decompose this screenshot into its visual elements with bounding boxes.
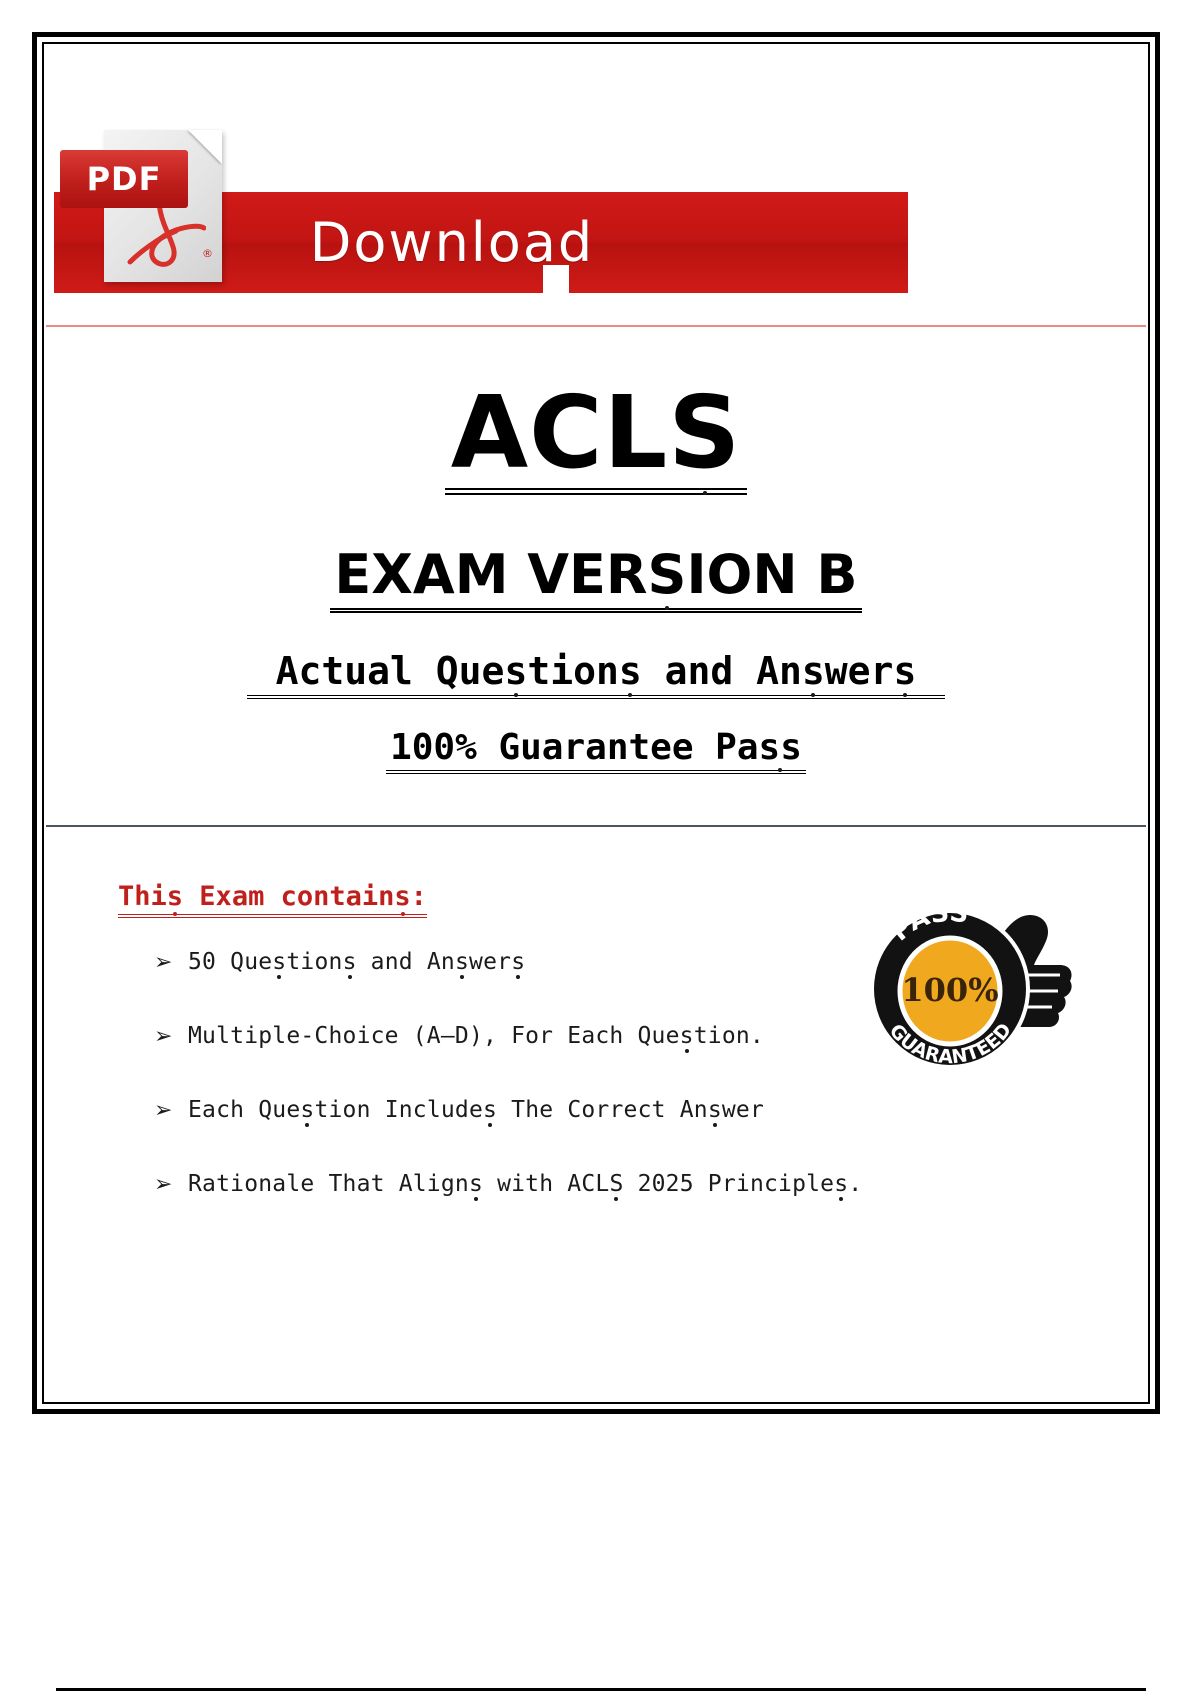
list-item-label: 50 Questions and Answers xyxy=(188,949,525,975)
page-title: ACLS xyxy=(445,381,748,495)
page-content: Download ® xyxy=(46,46,1146,1400)
list-item-label: Multiple-Choice (A–D), For Each Question… xyxy=(188,1023,764,1049)
pdf-label-tab: PDF xyxy=(60,150,188,208)
registered-mark: ® xyxy=(202,247,213,260)
footer-rule xyxy=(56,1688,1146,1691)
arrow-bullet-icon: ➢ xyxy=(154,1024,188,1049)
contains-heading: This Exam contains: xyxy=(118,881,427,918)
list-item: ➢ Multiple-Choice (A–D), For Each Questi… xyxy=(154,1023,914,1049)
subtitle-questions-answers: Actual Questions and Answers xyxy=(247,649,945,699)
page-border-outer: Download ® xyxy=(32,32,1160,1414)
list-item-label: Rationale That Aligns with ACLS 2025 Pri… xyxy=(188,1171,862,1197)
arrow-bullet-icon: ➢ xyxy=(154,950,188,975)
pass-guaranteed-badge: PASS GUARANTEED 100% xyxy=(846,885,1074,1085)
download-banner-section: Download ® xyxy=(46,46,1146,327)
contents-list: ➢ 50 Questions and Answers ➢ Multiple-Ch… xyxy=(154,949,914,1245)
exam-version-title: EXAM VERSION B xyxy=(330,543,861,613)
title-section: ACLS EXAM VERSION B Actual Questions and… xyxy=(46,327,1146,827)
exam-contents-section: This Exam contains: ➢ 50 Questions and A… xyxy=(46,827,1146,1400)
subtitle-guarantee: 100% Guarantee Pass xyxy=(386,727,806,774)
pdf-file-icon: ® PDF xyxy=(104,130,222,282)
list-item: ➢ 50 Questions and Answers xyxy=(154,949,914,975)
list-item-label: Each Question Includes The Correct Answe… xyxy=(188,1097,764,1123)
arrow-bullet-icon: ➢ xyxy=(154,1172,188,1197)
list-item: ➢ Rationale That Aligns with ACLS 2025 P… xyxy=(154,1171,914,1197)
list-item: ➢ Each Question Includes The Correct Ans… xyxy=(154,1097,914,1123)
pdf-label-text: PDF xyxy=(87,160,162,198)
badge-center-text: 100% xyxy=(901,971,998,1009)
arrow-bullet-icon: ➢ xyxy=(154,1098,188,1123)
page-fold-corner xyxy=(188,130,222,164)
page-border-inner: Download ® xyxy=(42,42,1150,1404)
